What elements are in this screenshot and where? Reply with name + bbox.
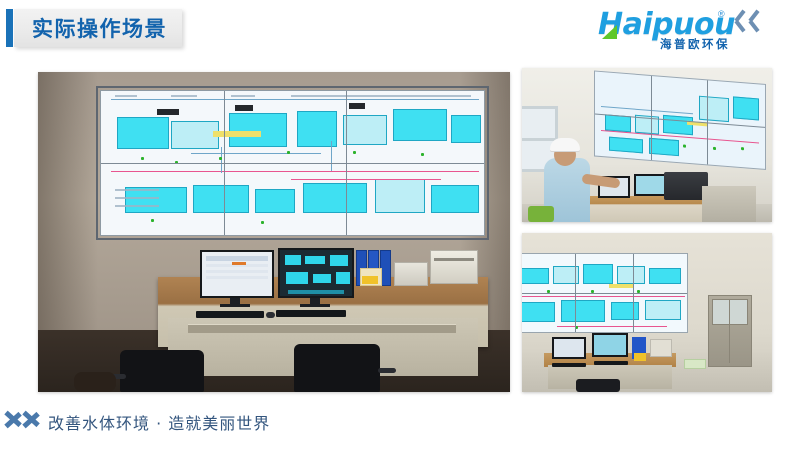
registered-trademark-icon: ® [718,9,725,19]
process-pipe [557,326,667,327]
status-indicator [141,157,144,160]
diagram-header-line [111,99,479,100]
operator-monitor-right [592,333,628,357]
chevron-right-icon [6,402,22,436]
office-chair [294,344,380,392]
chair-arm [378,368,396,373]
process-tank [522,268,549,284]
monitor-base [220,304,250,307]
chair-base [74,372,116,392]
multifunction-printer [430,250,478,284]
office-chair [576,379,620,392]
diagram-label [171,95,197,97]
printer [650,339,672,357]
operator-monitor-right [278,248,354,298]
slide-footer: 改善水体环境 · 造就美丽世界 [0,398,800,450]
process-tank [451,115,481,143]
process-pipe [291,179,441,180]
process-line [601,106,693,114]
company-logo: Haipuou ® 海普欧环保 [598,6,794,54]
process-weir [609,284,633,288]
process-line [331,141,332,171]
diagram-label [115,95,137,97]
process-weir [213,131,261,137]
status-indicator [713,147,716,150]
process-tank [171,121,219,149]
process-equipment [235,105,253,111]
cabinet-glass-door [712,299,748,325]
desk-drawer [188,324,456,333]
process-tank [699,96,729,122]
process-tank [617,266,645,284]
process-pipe [111,171,479,172]
green-chair [528,206,554,222]
process-tank [663,115,693,135]
photo-control-room-main [38,72,510,392]
hard-hat [550,138,580,151]
tissue-box [634,353,646,361]
keyboard [276,310,346,317]
video-wall-display [594,70,766,170]
process-tank [645,300,681,320]
monitor-base [300,304,330,307]
process-tank [255,189,295,213]
slide-header: 实际操作场景 Haipuou ® 海普欧环保 [0,0,800,60]
process-equipment [157,109,179,115]
keyboard [196,311,264,318]
diagram-label [115,205,159,207]
process-tank [431,185,479,213]
process-tank [583,264,613,284]
floor-box [684,359,706,369]
status-indicator [151,219,154,222]
mouse [266,312,275,318]
chevron-left-icon [750,13,763,43]
keyboard [594,361,628,365]
process-line [191,153,321,154]
diagram-label [115,189,159,191]
process-tank [649,138,679,156]
logo-chinese-name: 海普欧环保 [660,36,730,52]
process-tank [193,185,249,213]
operator-monitor-left [552,337,586,359]
video-wall-display [522,253,688,333]
status-indicator [683,144,686,147]
video-wall-seam [101,163,484,164]
video-wall-seam [522,293,687,294]
process-tank [609,137,643,154]
tissue-box-label [362,276,378,284]
printer-slot [434,258,474,261]
diagram-label [231,95,255,97]
process-tank [649,268,681,284]
status-indicator [287,151,290,154]
keyboard [552,363,586,367]
process-tank [393,109,447,141]
process-tank [303,183,367,213]
process-tank [733,96,759,120]
process-tank [611,302,639,320]
process-tank [561,300,605,322]
status-indicator [261,221,264,224]
status-indicator [421,153,424,156]
diagram-label [115,197,159,199]
printer [394,262,428,286]
chevron-left-icon [736,13,749,43]
diagram-label [291,95,471,97]
process-equipment [349,103,365,109]
operator-monitor-right [634,174,666,196]
process-tank [117,117,169,149]
process-tank [343,115,387,145]
process-tank [229,113,287,147]
status-indicator [353,151,356,154]
photo-operator-at-console [522,68,772,222]
operator-monitor-left [200,250,274,298]
side-cabinet [702,186,756,222]
process-tank [375,179,425,213]
cabinet-door-split [729,299,730,363]
video-wall-display [100,90,485,236]
status-indicator [741,147,744,150]
footer-tagline: 改善水体环境 · 造就美丽世界 [48,410,270,434]
title-accent-bar [6,9,13,47]
process-pipe [522,296,685,297]
process-tank [522,302,555,322]
page-title: 实际操作场景 [32,15,182,43]
office-chair [120,350,204,392]
chevron-right-icon [24,402,40,436]
process-line [221,147,222,173]
photo-control-room-wide [522,233,772,392]
status-indicator [219,157,222,160]
